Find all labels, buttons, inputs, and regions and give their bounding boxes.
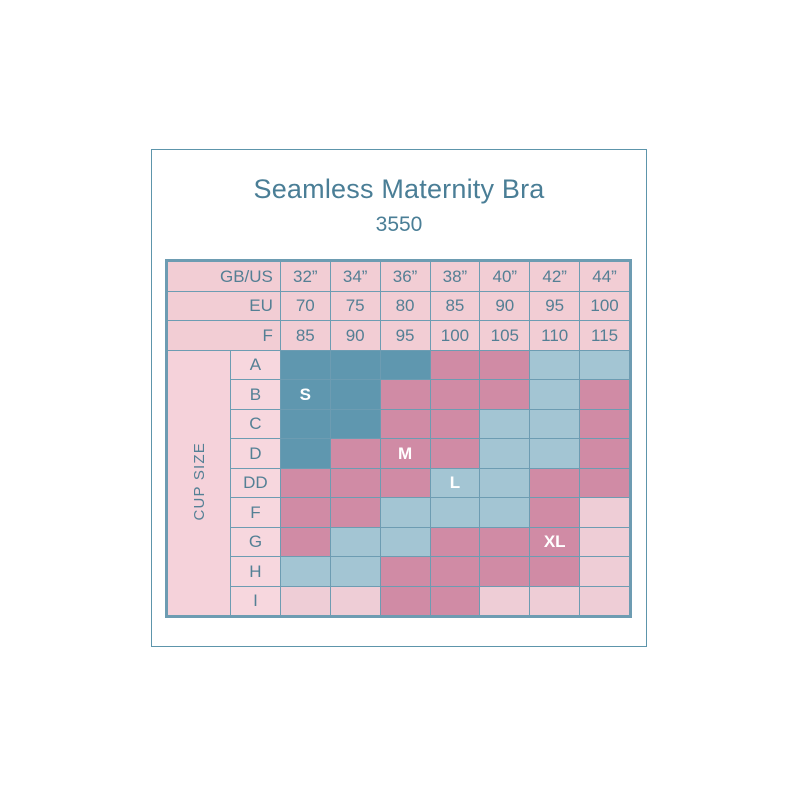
header-cell: 95 [381,321,430,350]
size-grid-cell [580,351,629,380]
cup-size-label: B [231,380,280,409]
size-grid-cell [381,351,430,380]
size-grid-cell [281,498,330,527]
size-grid-cell [480,410,529,439]
size-grid-cell [281,410,330,439]
table-row: DDL [168,469,629,498]
size-grid-cell [331,587,380,616]
header-cell: 40” [480,262,529,291]
header-cell: 95 [530,292,579,321]
table-row: C [168,410,629,439]
size-grid-cell [480,380,529,409]
size-grid-cell [281,351,330,380]
size-grid-cell [480,498,529,527]
size-grid-cell [331,410,380,439]
header-cell: 85 [431,292,480,321]
size-grid-cell [580,410,629,439]
header-cell: 75 [331,292,380,321]
header-cell: 110 [530,321,579,350]
header-cell: 80 [381,292,430,321]
size-grid-cell [381,498,430,527]
size-marker-cell: XL [530,528,579,557]
size-chart-table: GB/US32”34”36”38”40”42”44”EU707580859095… [167,261,630,616]
cup-size-label: DD [231,469,280,498]
header-cell: 100 [580,292,629,321]
cup-size-label: I [231,587,280,616]
size-grid-cell [281,557,330,586]
size-marker-cell: S [281,380,330,409]
size-grid-cell [530,351,579,380]
header-cell: 100 [431,321,480,350]
style-number: 3550 [152,213,646,237]
size-grid-cell [480,439,529,468]
size-grid-cell [431,439,480,468]
header-row: F859095100105110115 [168,321,629,350]
size-grid-cell [530,587,579,616]
size-grid-cell [580,498,629,527]
table-row: BS [168,380,629,409]
size-grid-cell [530,498,579,527]
size-grid-cell [431,410,480,439]
size-grid-cell [530,439,579,468]
table-row: F [168,498,629,527]
cup-size-label: C [231,410,280,439]
size-grid-cell [580,469,629,498]
size-grid-cell [431,557,480,586]
size-grid-cell [331,528,380,557]
cup-size-label: H [231,557,280,586]
table-row: H [168,557,629,586]
size-grid-cell [480,587,529,616]
size-grid-cell [331,439,380,468]
header-cell: 70 [281,292,330,321]
header-cell: 105 [480,321,529,350]
size-grid-cell [381,380,430,409]
size-grid-cell [580,587,629,616]
size-grid-cell [431,498,480,527]
cup-size-axis-text: CUP SIZE [192,442,207,521]
size-grid-cell [331,557,380,586]
header-cell: 38” [431,262,480,291]
header-cell: 34” [331,262,380,291]
size-chart-frame: Seamless Maternity Bra 3550 GB/US32”34”3… [151,149,647,647]
size-grid-cell [580,528,629,557]
header-row: EU707580859095100 [168,292,629,321]
size-grid-cell [431,351,480,380]
header-cell: 115 [580,321,629,350]
size-grid-cell [381,410,430,439]
size-grid-cell [431,587,480,616]
size-grid-cell [331,498,380,527]
size-grid-cell [381,528,430,557]
cup-size-label: A [231,351,280,380]
size-grid-cell [530,410,579,439]
size-grid-cell [431,528,480,557]
size-grid-cell [580,557,629,586]
size-grid-cell [281,528,330,557]
size-grid-cell [480,351,529,380]
size-chart-body: GB/US32”34”36”38”40”42”44”EU707580859095… [168,262,629,615]
table-row: I [168,587,629,616]
header-cell: 85 [281,321,330,350]
size-grid-cell [381,557,430,586]
size-grid-cell [281,439,330,468]
size-grid-cell [480,469,529,498]
size-grid-cell [580,439,629,468]
cup-size-label: G [231,528,280,557]
table-row: DM [168,439,629,468]
header-cell: 44” [580,262,629,291]
header-cell: 90 [331,321,380,350]
page-title: Seamless Maternity Bra [152,174,646,205]
size-grid-cell [281,587,330,616]
size-grid-cell [530,380,579,409]
size-grid-cell [381,587,430,616]
size-marker-cell: M [381,439,430,468]
header-row-label: EU [168,292,280,321]
size-grid-cell [530,469,579,498]
header-cell: 36” [381,262,430,291]
size-marker-cell: L [431,469,480,498]
size-grid-cell [331,469,380,498]
cup-size-axis-label: CUP SIZE [168,351,230,616]
header-cell: 42” [530,262,579,291]
header-cell: 90 [480,292,529,321]
size-grid-cell [480,557,529,586]
header-row-label: F [168,321,280,350]
size-chart-table-wrapper: GB/US32”34”36”38”40”42”44”EU707580859095… [165,259,632,618]
size-grid-cell [580,380,629,409]
size-grid-cell [431,380,480,409]
table-row: GXL [168,528,629,557]
size-grid-cell [331,380,380,409]
size-grid-cell [480,528,529,557]
size-grid-cell [281,469,330,498]
header-cell: 32” [281,262,330,291]
table-row: CUP SIZEA [168,351,629,380]
header-row: GB/US32”34”36”38”40”42”44” [168,262,629,291]
cup-size-label: F [231,498,280,527]
header-row-label: GB/US [168,262,280,291]
cup-size-label: D [231,439,280,468]
size-grid-cell [530,557,579,586]
size-grid-cell [381,469,430,498]
size-grid-cell [331,351,380,380]
